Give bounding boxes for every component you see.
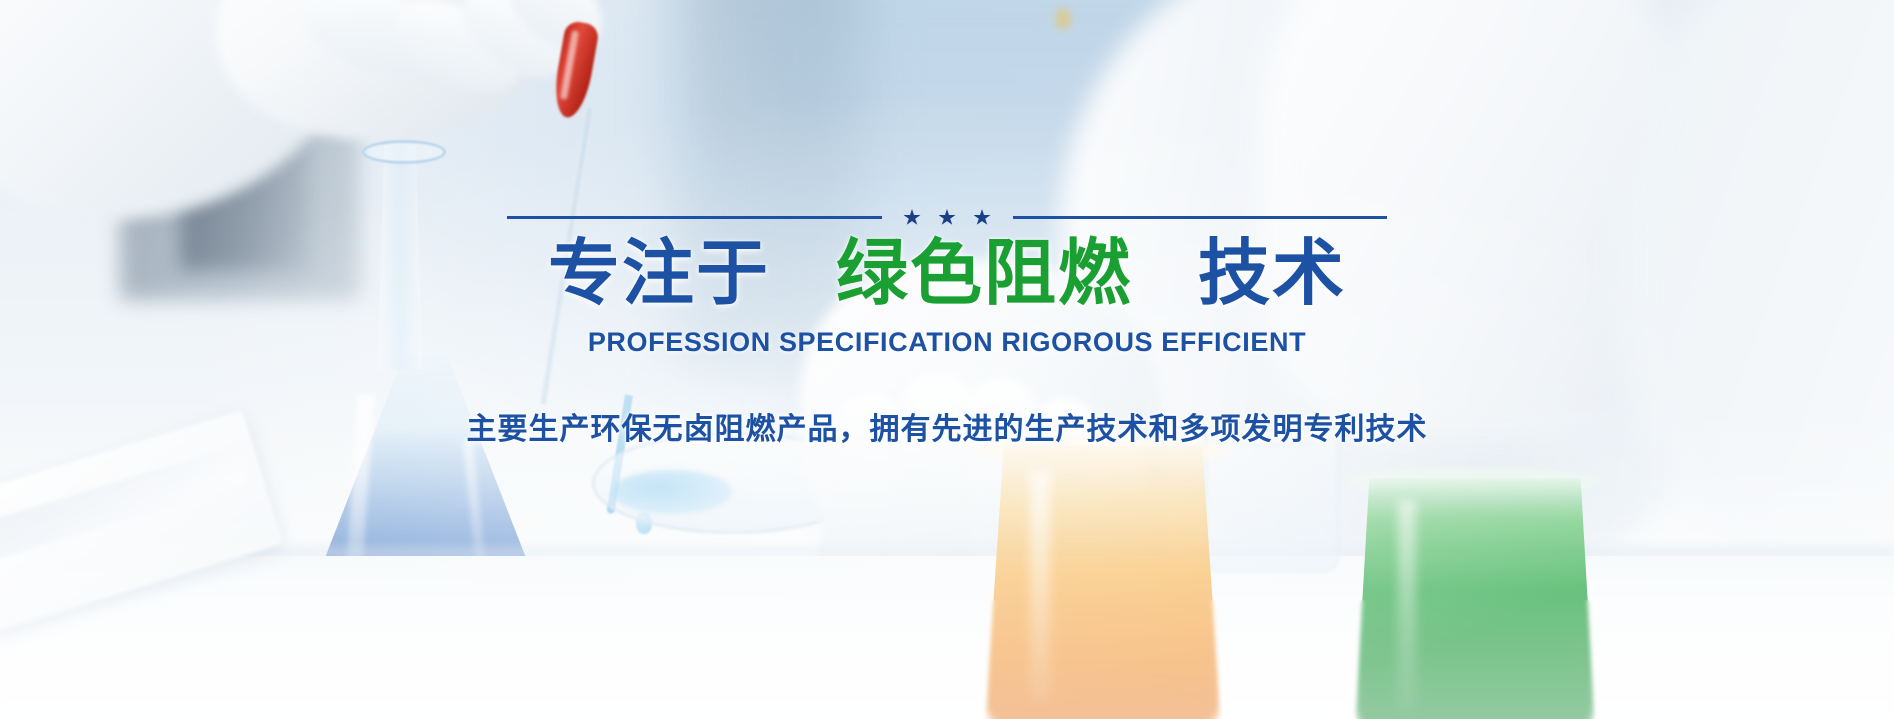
divider-line-left <box>507 216 882 219</box>
title-part-tail: 技术 <box>1198 234 1346 314</box>
banner-content: 专注于 绿色阻燃 技术 PROFESSION SPECIFICATION RIG… <box>0 0 1894 719</box>
divider-stars <box>904 209 991 226</box>
divider-line-right <box>1013 216 1388 219</box>
decorative-divider <box>507 209 1387 226</box>
hero-banner: 专注于 绿色阻燃 技术 PROFESSION SPECIFICATION RIG… <box>0 0 1894 719</box>
page-title: 专注于 绿色阻燃 技术 <box>548 232 1346 317</box>
star-icon <box>904 209 921 226</box>
star-icon <box>939 209 956 226</box>
star-icon <box>974 209 991 226</box>
title-part-primary: 专注于 <box>548 234 770 314</box>
slogan-text: 主要生产环保无卤阻燃产品，拥有先进的生产技术和多项发明专利技术 <box>467 404 1428 448</box>
title-part-accent: 绿色阻燃 <box>836 234 1132 314</box>
english-subtitle: PROFESSION SPECIFICATION RIGOROUS EFFICI… <box>588 327 1306 358</box>
